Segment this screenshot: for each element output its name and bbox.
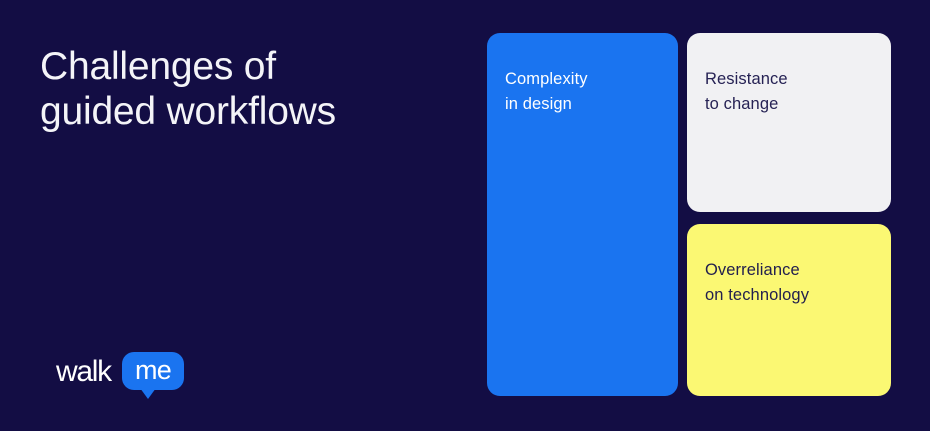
logo-bubble-tail-icon [140,388,156,399]
card-overreliance[interactable]: Overreliance on technology [687,224,891,396]
slide-canvas: Challenges of guided workflows Complexit… [0,0,930,431]
title-block: Challenges of guided workflows [40,44,440,134]
walkme-logo: walk me [56,352,186,400]
card-complexity-label: Complexity in design [505,67,588,117]
page-title: Challenges of guided workflows [40,44,440,134]
card-overreliance-label: Overreliance on technology [705,258,809,308]
card-complexity[interactable]: Complexity in design [487,33,678,396]
card-resistance-label: Resistance to change [705,67,788,117]
logo-speech-bubble-icon: me [122,352,184,390]
card-resistance[interactable]: Resistance to change [687,33,891,212]
logo-wordmark-walk: walk [56,356,111,388]
logo-wordmark-me: me [122,355,184,385]
